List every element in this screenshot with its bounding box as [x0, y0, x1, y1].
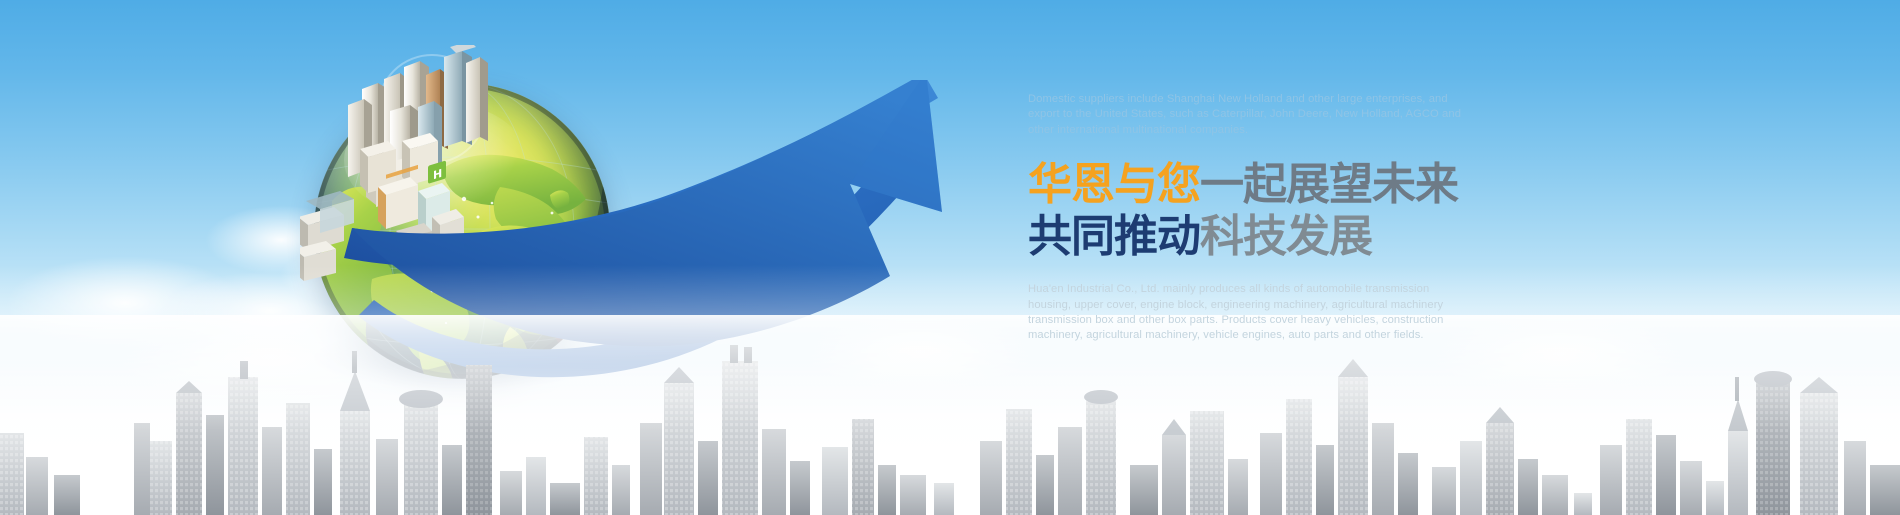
headline-line-1: 华恩与您一起展望未来 — [1028, 160, 1498, 210]
skyline-buildings-icon — [0, 315, 1900, 515]
headline-1-rest: 一起展望未来 — [1200, 159, 1458, 210]
hero-banner: H — [0, 0, 1900, 515]
skyline-graphic — [0, 315, 1900, 515]
headline-2-highlight: 共同推动 — [1028, 211, 1200, 262]
banner-copy: Domestic suppliers include Shanghai New … — [1028, 92, 1498, 344]
lede-paragraph: Domestic suppliers include Shanghai New … — [1028, 92, 1468, 138]
body-paragraph: Hua'en Industrial Co., Ltd. mainly produ… — [1028, 282, 1473, 344]
headline-1-highlight: 华恩与您 — [1028, 159, 1200, 210]
headline-2-rest: 科技发展 — [1200, 211, 1372, 262]
headline-line-2: 共同推动科技发展 — [1028, 212, 1498, 262]
